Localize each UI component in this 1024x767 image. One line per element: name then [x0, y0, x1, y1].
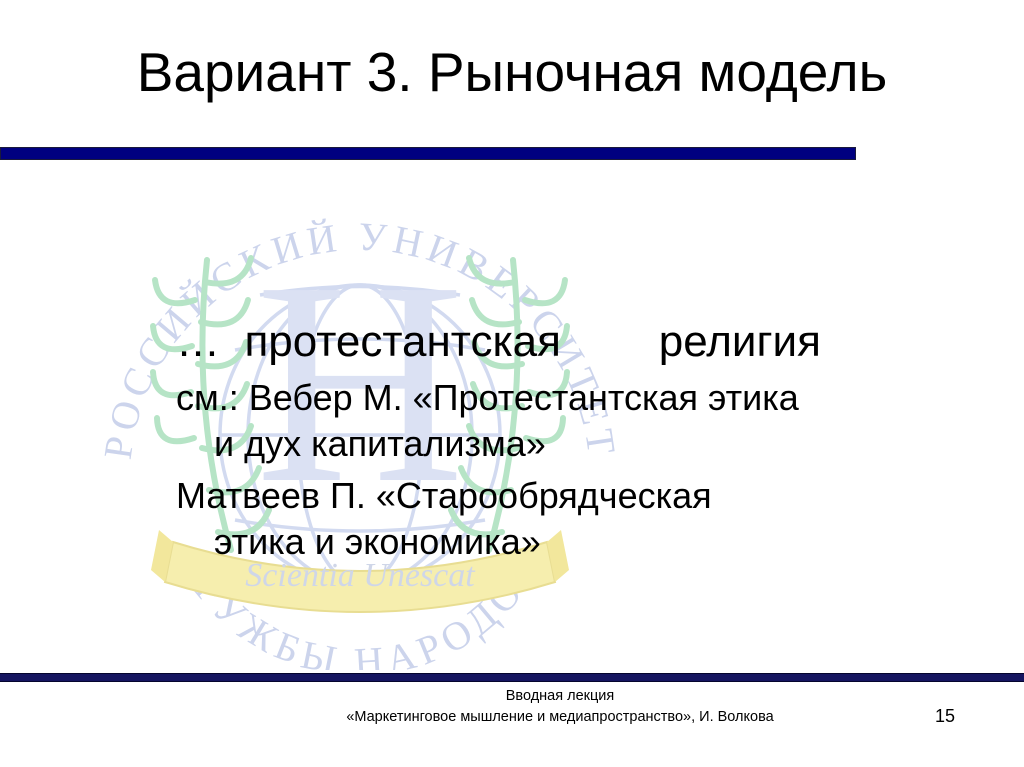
footer-divider-rule: [0, 673, 1024, 682]
reference-matveev: Матвеев П. «Старообрядческая этика и эко…: [170, 473, 930, 565]
footer-line-2: «Маркетинговое мышление и медиапространс…: [160, 707, 960, 728]
page-number: 15: [915, 706, 975, 727]
reference-matveev-line1: Матвеев П. «Старообрядческая: [176, 475, 712, 516]
reference-matveev-line2: этика и экономика»: [176, 519, 930, 565]
footer-line-1: Вводная лекция: [160, 686, 960, 707]
reference-weber-line2: и дух капитализма»: [176, 421, 930, 467]
reference-weber: см.: Вебер М. «Протестантская этика и ду…: [170, 375, 930, 467]
reference-item: Матвеев П. «Старообрядческая этика и эко…: [170, 473, 930, 565]
page-title: Вариант 3. Рыночная модель: [0, 40, 1024, 104]
slide-body: … протестантская религия см.: Вебер М. «…: [170, 315, 930, 565]
body-lead-line: … протестантская религия: [170, 315, 930, 369]
reference-item: см.: Вебер М. «Протестантская этика и ду…: [170, 375, 930, 467]
reference-weber-line1: см.: Вебер М. «Протестантская этика: [176, 377, 799, 418]
title-divider-rule: [0, 147, 856, 160]
slide-canvas: РОССИЙСКИЙ УНИВЕРСИТЕТ ДРУЖБЫ НАРОДОВ Н: [0, 0, 1024, 767]
footer-text: Вводная лекция «Маркетинговое мышление и…: [160, 686, 960, 728]
